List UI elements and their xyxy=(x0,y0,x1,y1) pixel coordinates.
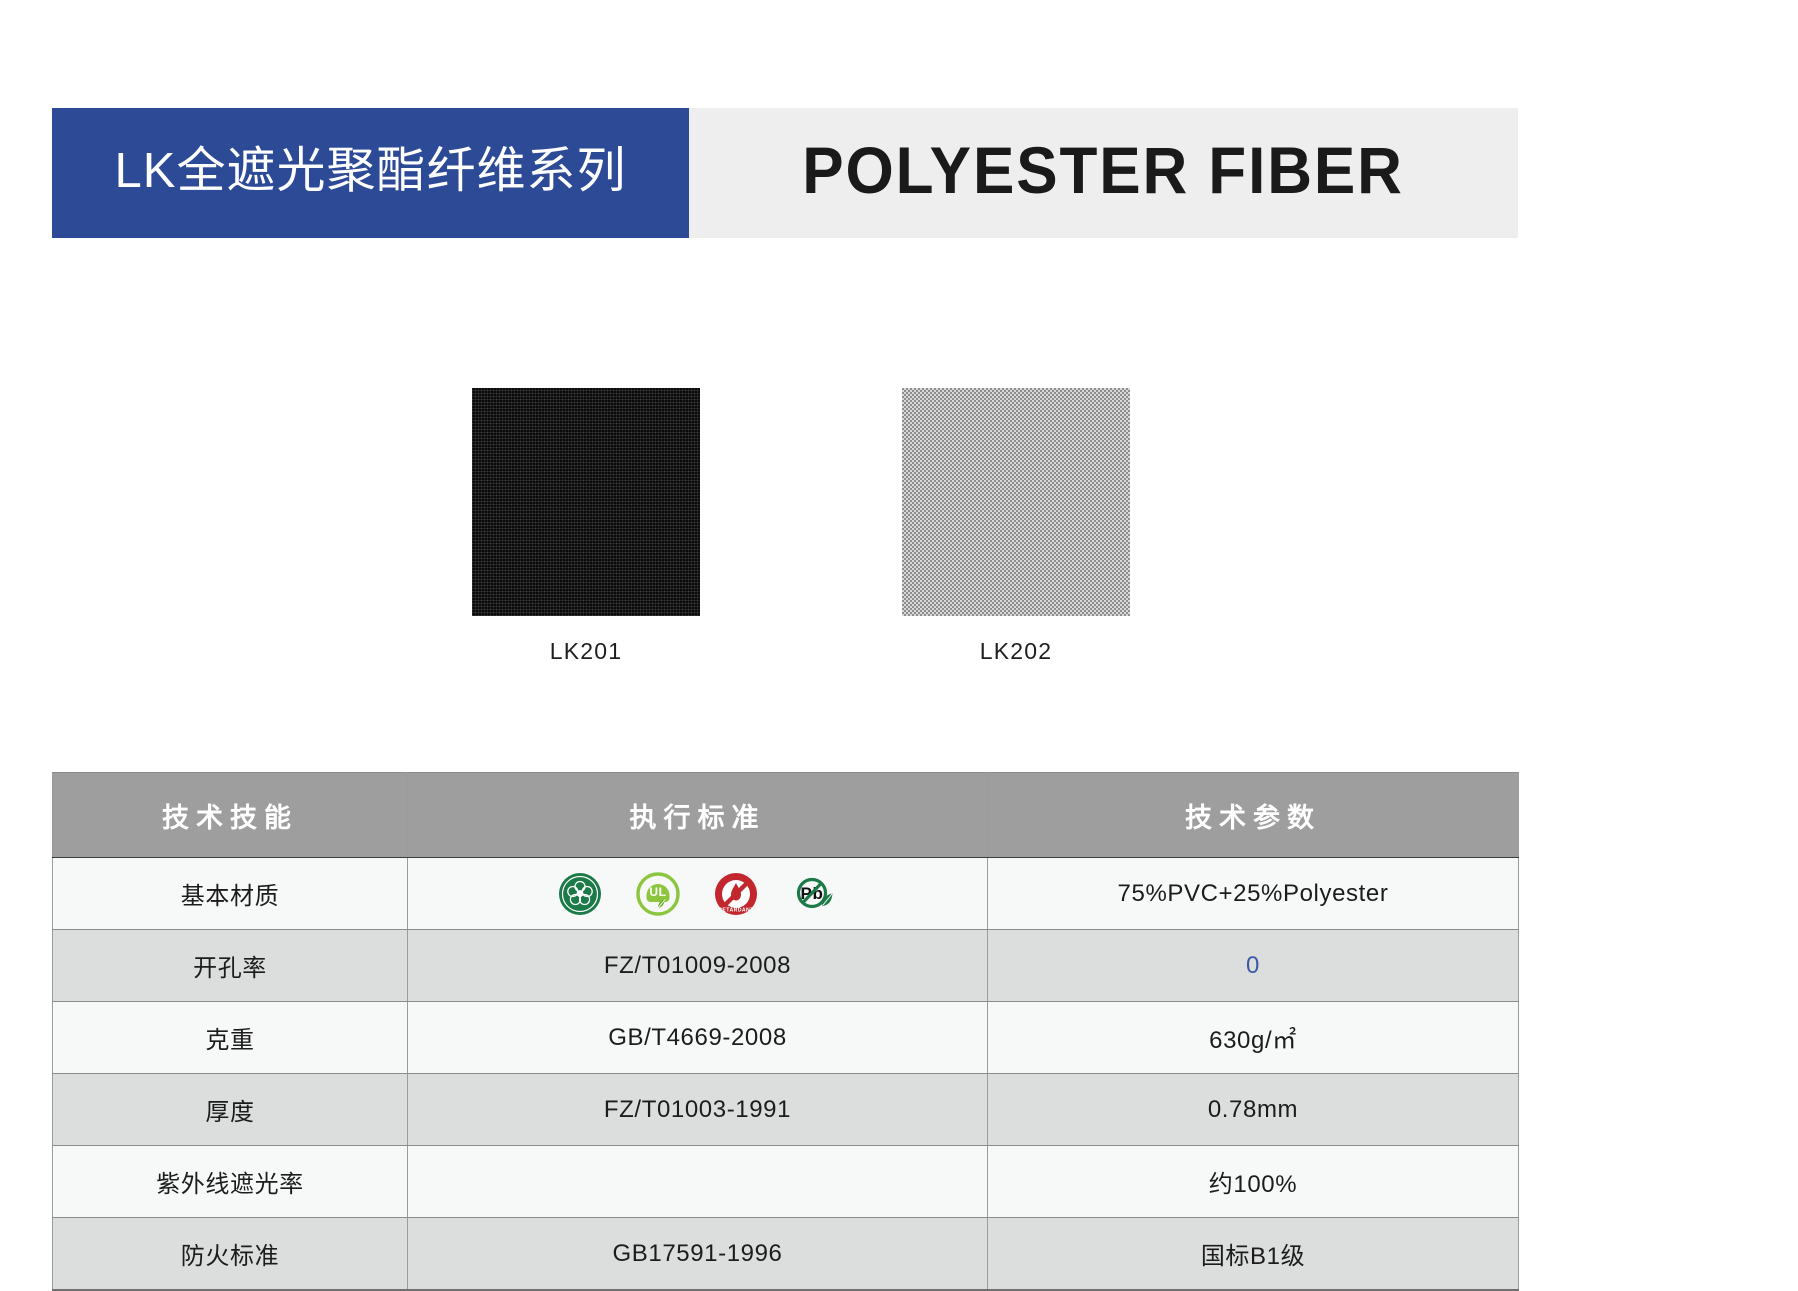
svg-text:UL: UL xyxy=(649,885,666,899)
lead-free-pb-icon: Pb xyxy=(792,872,838,916)
parameter-cell: 630g/㎡ xyxy=(988,1002,1519,1074)
standard-cell-icons: UL RETARDANT Pb xyxy=(408,858,988,930)
swatch-item[interactable]: LK202 xyxy=(902,388,1130,665)
feature-cell: 厚度 xyxy=(53,1074,408,1146)
dark-black-woven-fabric-swatch[interactable] xyxy=(472,388,700,616)
table-row: 防火标准 GB17591-1996 国标B1级 xyxy=(53,1218,1519,1291)
standard-cell: GB/T4669-2008 xyxy=(408,1002,988,1074)
specification-table: 技术技能 执行标准 技术参数 基本材质 xyxy=(52,772,1519,1291)
parameter-cell: 0 xyxy=(988,930,1519,1002)
standard-cell: FZ/T01003-1991 xyxy=(408,1074,988,1146)
ul-green-leaf-badge-icon: UL xyxy=(636,872,680,916)
svg-text:RETARDANT: RETARDANT xyxy=(718,907,754,913)
parameter-cell: 0.78mm xyxy=(988,1074,1519,1146)
table-row: 厚度 FZ/T01003-1991 0.78mm xyxy=(53,1074,1519,1146)
feature-cell: 基本材质 xyxy=(53,858,408,930)
column-header-parameter: 技术参数 xyxy=(988,773,1519,858)
table-row: 紫外线遮光率 约100% xyxy=(53,1146,1519,1218)
table-header-row: 技术技能 执行标准 技术参数 xyxy=(53,773,1519,858)
feature-cell: 开孔率 xyxy=(53,930,408,1002)
feature-cell: 防火标准 xyxy=(53,1218,408,1291)
swatch-label: LK201 xyxy=(472,638,700,665)
column-header-feature: 技术技能 xyxy=(53,773,408,858)
table-row: 开孔率 FZ/T01009-2008 0 xyxy=(53,930,1519,1002)
standard-cell: FZ/T01009-2008 xyxy=(408,930,988,1002)
light-gray-woven-fabric-swatch[interactable] xyxy=(902,388,1130,616)
feature-cell: 克重 xyxy=(53,1002,408,1074)
standard-cell: GB17591-1996 xyxy=(408,1218,988,1291)
table-row: 基本材质 xyxy=(53,858,1519,930)
product-title-panel: POLYESTER FIBER xyxy=(689,108,1518,238)
swatch-item[interactable]: LK201 xyxy=(472,388,700,665)
standard-cell xyxy=(408,1146,988,1218)
table-row: 克重 GB/T4669-2008 630g/㎡ xyxy=(53,1002,1519,1074)
series-title-cn: LK全遮光聚酯纤维系列 xyxy=(115,147,627,196)
parameter-value-accent: 0 xyxy=(1246,952,1260,979)
fabric-swatch-gallery: LK201 LK202 xyxy=(52,388,1518,668)
parameter-cell: 国标B1级 xyxy=(988,1218,1519,1291)
parameter-cell: 约100% xyxy=(988,1146,1519,1218)
page-header: LK全遮光聚酯纤维系列 POLYESTER FIBER xyxy=(52,108,1518,238)
feature-cell: 紫外线遮光率 xyxy=(53,1146,408,1218)
column-header-standard: 执行标准 xyxy=(408,773,988,858)
flame-retardant-icon: RETARDANT xyxy=(714,872,758,916)
swatch-label: LK202 xyxy=(902,638,1130,665)
parameter-cell: 75%PVC+25%Polyester xyxy=(988,858,1519,930)
series-title-banner: LK全遮光聚酯纤维系列 xyxy=(52,108,689,238)
green-eco-emblem-icon xyxy=(558,872,602,916)
product-title-en: POLYESTER FIBER xyxy=(803,137,1405,203)
certification-icon-group: UL RETARDANT Pb xyxy=(409,872,986,916)
